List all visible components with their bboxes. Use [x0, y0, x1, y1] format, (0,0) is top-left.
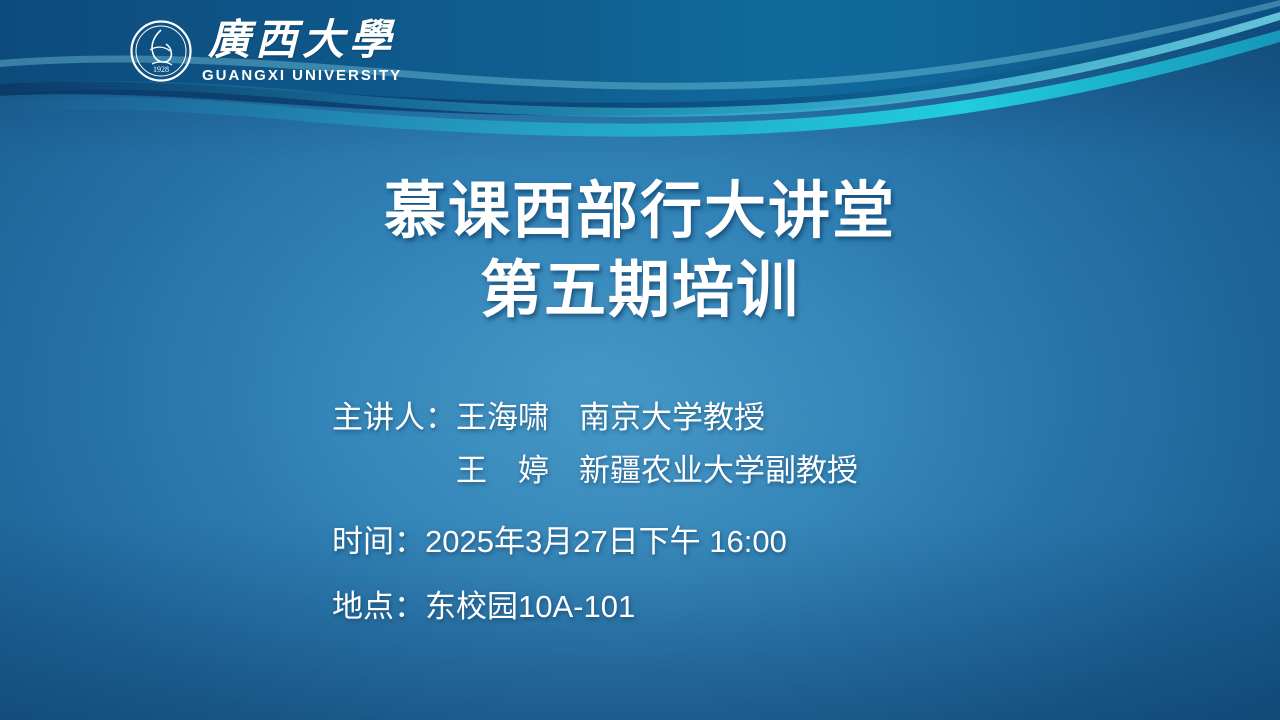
- university-seal-icon: 1928: [130, 20, 192, 82]
- university-name-en: GUANGXI UNIVERSITY: [202, 68, 402, 83]
- presentation-slide: 1928 廣西大學 GUANGXI UNIVERSITY 慕课西部行大讲堂 第五…: [0, 0, 1280, 720]
- slide-title-line-1: 慕课西部行大讲堂: [0, 172, 1280, 251]
- university-logo: 1928 廣西大學 GUANGXI UNIVERSITY: [130, 18, 402, 83]
- time-label: 时间：: [332, 524, 425, 559]
- speaker-row-1: 主讲人：王海啸南京大学教授: [332, 402, 858, 433]
- speaker-row-2: 王 婷新疆农业大学副教授: [332, 455, 858, 486]
- place-row: 地点：东校园10A-101: [332, 591, 858, 622]
- speaker-2-name: 王 婷: [456, 453, 549, 488]
- university-logo-text: 廣西大學 GUANGXI UNIVERSITY: [202, 20, 402, 83]
- place-label: 地点：: [332, 589, 425, 624]
- speaker-1-name: 王海啸: [456, 400, 549, 435]
- time-value: 2025年3月27日下午 16:00: [425, 524, 787, 559]
- speaker-1-affiliation: 南京大学教授: [579, 400, 765, 435]
- slide-title-line-2: 第五期培训: [0, 251, 1280, 330]
- time-row: 时间：2025年3月27日下午 16:00: [332, 526, 858, 557]
- university-name-cn: 廣西大學: [208, 20, 396, 62]
- speaker-2-affiliation: 新疆农业大学副教授: [579, 453, 858, 488]
- slide-title: 慕课西部行大讲堂 第五期培训: [0, 172, 1280, 331]
- speaker-label: 主讲人：: [332, 400, 456, 435]
- place-value: 东校园10A-101: [425, 589, 635, 624]
- svg-text:1928: 1928: [153, 65, 169, 74]
- slide-details: 主讲人：王海啸南京大学教授 王 婷新疆农业大学副教授 时间：2025年3月27日…: [332, 402, 858, 622]
